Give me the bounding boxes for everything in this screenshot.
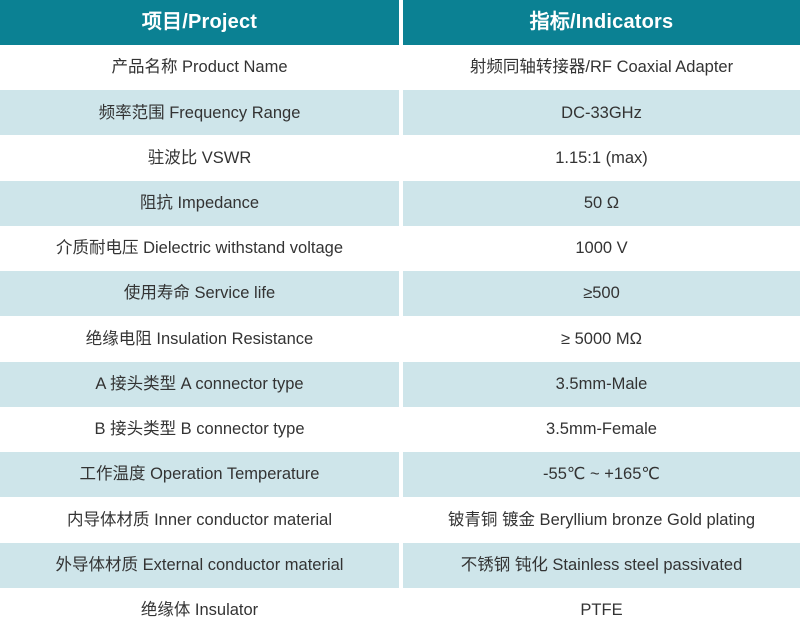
cell-indicator: ≥500: [403, 271, 800, 316]
cell-indicator: DC-33GHz: [403, 90, 800, 135]
cell-project: 外导体材质 External conductor material: [0, 543, 399, 588]
cell-project: B 接头类型 B connector type: [0, 407, 399, 452]
table-row: A 接头类型 A connector type 3.5mm-Male: [0, 362, 800, 407]
table-row: 阻抗 Impedance 50 Ω: [0, 181, 800, 226]
cell-project: 驻波比 VSWR: [0, 135, 399, 180]
table-row: 介质耐电压 Dielectric withstand voltage 1000 …: [0, 226, 800, 271]
cell-project: 介质耐电压 Dielectric withstand voltage: [0, 226, 399, 271]
cell-indicator: PTFE: [403, 588, 800, 633]
column-header-indicators: 指标/Indicators: [403, 0, 800, 45]
cell-project: 工作温度 Operation Temperature: [0, 452, 399, 497]
table-row: 频率范围 Frequency Range DC-33GHz: [0, 90, 800, 135]
cell-indicator: 3.5mm-Male: [403, 362, 800, 407]
cell-indicator: 不锈钢 钝化 Stainless steel passivated: [403, 543, 800, 588]
cell-indicator: -55℃ ~ +165℃: [403, 452, 800, 497]
table-row: 工作温度 Operation Temperature -55℃ ~ +165℃: [0, 452, 800, 497]
cell-indicator: 3.5mm-Female: [403, 407, 800, 452]
cell-indicator: 铍青铜 镀金 Beryllium bronze Gold plating: [403, 497, 800, 542]
cell-project: 频率范围 Frequency Range: [0, 90, 399, 135]
column-header-project: 项目/Project: [0, 0, 399, 45]
table-row: 外导体材质 External conductor material 不锈钢 钝化…: [0, 543, 800, 588]
table-row: 使用寿命 Service life ≥500: [0, 271, 800, 316]
table-row: 内导体材质 Inner conductor material 铍青铜 镀金 Be…: [0, 497, 800, 542]
table-row: 绝缘体 Insulator PTFE: [0, 588, 800, 633]
cell-project: 阻抗 Impedance: [0, 181, 399, 226]
cell-project: 绝缘体 Insulator: [0, 588, 399, 633]
table-row: B 接头类型 B connector type 3.5mm-Female: [0, 407, 800, 452]
table-row: 驻波比 VSWR 1.15:1 (max): [0, 135, 800, 180]
table-header-row: 项目/Project 指标/Indicators: [0, 0, 800, 45]
cell-indicator: 1.15:1 (max): [403, 135, 800, 180]
cell-project: 绝缘电阻 Insulation Resistance: [0, 316, 399, 361]
cell-project: 内导体材质 Inner conductor material: [0, 497, 399, 542]
table-row: 绝缘电阻 Insulation Resistance ≥ 5000 MΩ: [0, 316, 800, 361]
cell-project: 使用寿命 Service life: [0, 271, 399, 316]
cell-project: A 接头类型 A connector type: [0, 362, 399, 407]
cell-indicator: ≥ 5000 MΩ: [403, 316, 800, 361]
specification-table: 项目/Project 指标/Indicators 产品名称 Product Na…: [0, 0, 800, 633]
cell-indicator: 1000 V: [403, 226, 800, 271]
cell-project: 产品名称 Product Name: [0, 45, 399, 90]
table-row: 产品名称 Product Name 射频同轴转接器/RF Coaxial Ada…: [0, 45, 800, 90]
cell-indicator: 射频同轴转接器/RF Coaxial Adapter: [403, 45, 800, 90]
cell-indicator: 50 Ω: [403, 181, 800, 226]
